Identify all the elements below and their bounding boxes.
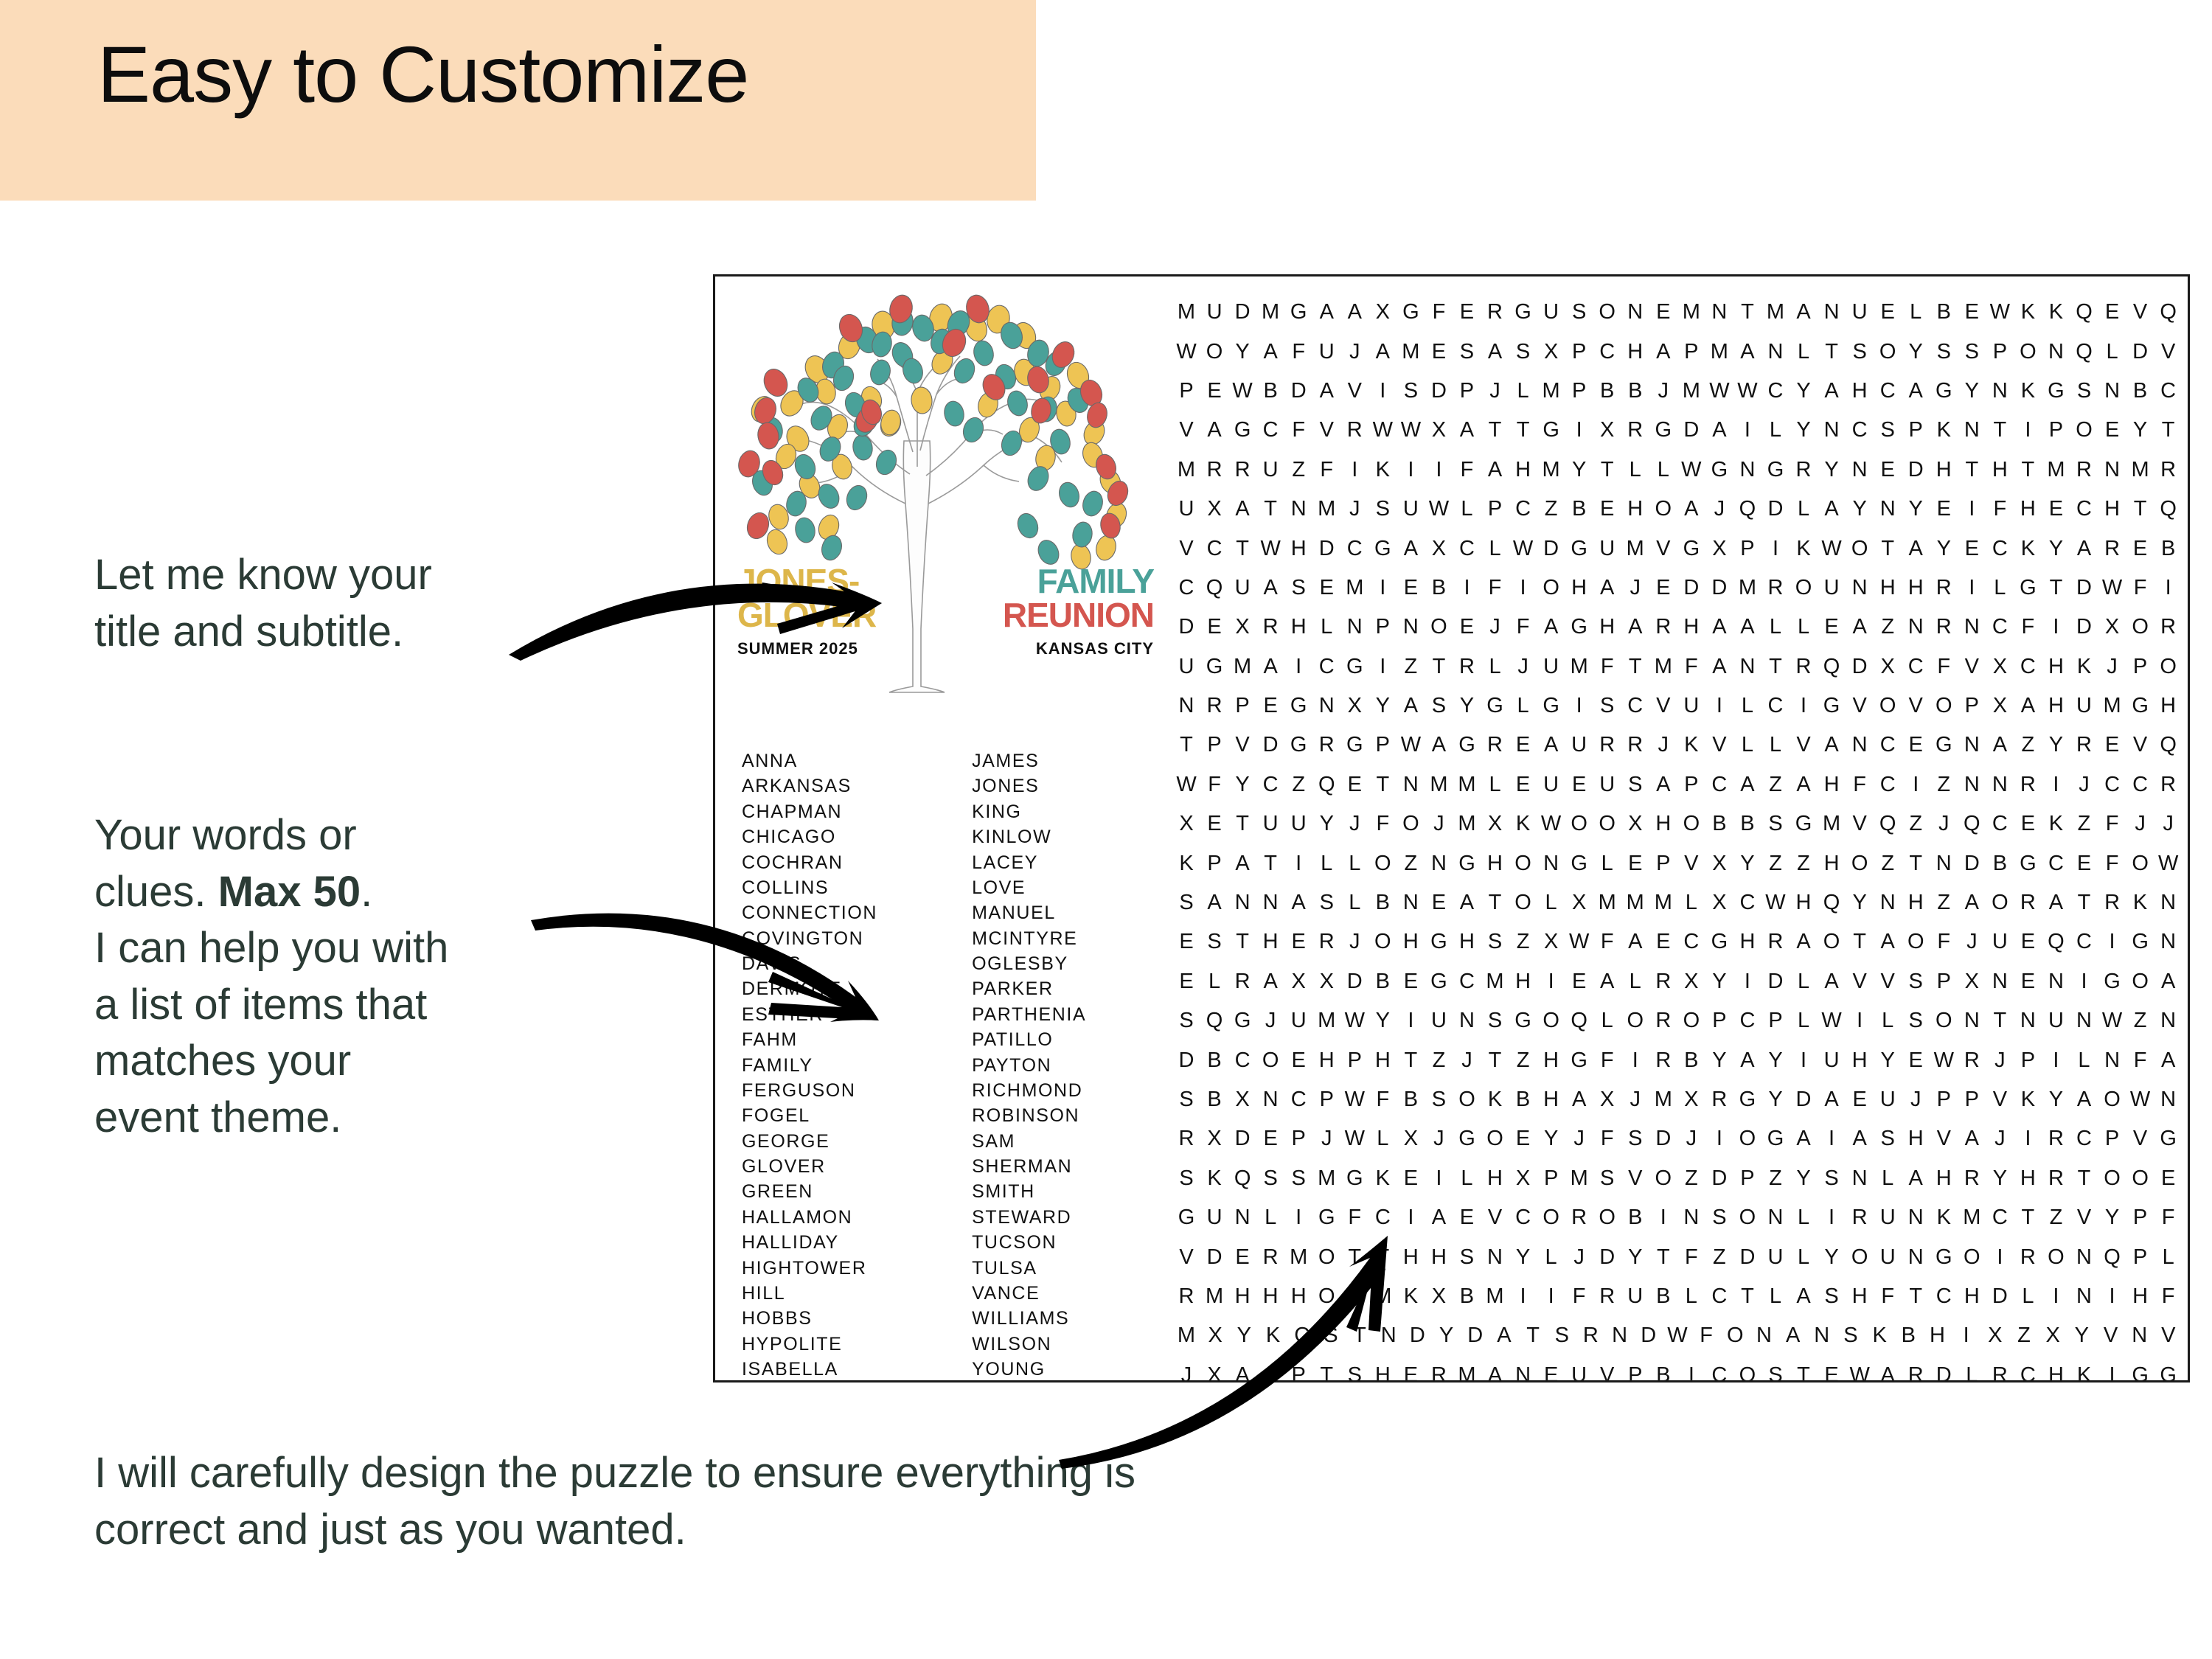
letter-grid-cell: U bbox=[1621, 1284, 1649, 1309]
letter-grid-cell: C bbox=[1593, 340, 1621, 364]
letter-grid-cell: E bbox=[1818, 1363, 1846, 1382]
letter-grid-cell: D bbox=[1284, 379, 1312, 403]
letter-grid-cell: S bbox=[1837, 1324, 1865, 1348]
letter-grid-cell: V bbox=[1593, 1363, 1621, 1382]
letter-grid-cell: T bbox=[1425, 655, 1453, 679]
letter-grid-cell: T bbox=[1346, 1324, 1374, 1348]
letter-grid-cell: K bbox=[1865, 1324, 1893, 1348]
letter-grid-cell: L bbox=[2070, 1048, 2098, 1073]
letter-grid-cell: C bbox=[1509, 1206, 1537, 1230]
letter-grid-cell: G bbox=[2042, 379, 2070, 403]
puzzle-title-right-line1: FAMILY bbox=[977, 564, 1154, 598]
letter-grid-cell: C bbox=[1312, 655, 1340, 679]
letter-grid-cell: A bbox=[1284, 891, 1312, 915]
letter-grid-cell: H bbox=[1593, 615, 1621, 639]
letter-grid-cell: Y bbox=[1902, 497, 1930, 521]
letter-grid-cell: B bbox=[1621, 379, 1649, 403]
letter-grid-cell: I bbox=[1952, 1324, 1980, 1348]
letter-grid-cell: O bbox=[2014, 340, 2042, 364]
letter-grid-cell: N bbox=[2154, 891, 2183, 915]
letter-grid-cell: T bbox=[2126, 497, 2154, 521]
letter-grid-cell: A bbox=[1677, 497, 1705, 521]
letter-grid-cell: N bbox=[1958, 733, 1986, 757]
letter-grid-cell: T bbox=[1519, 1324, 1547, 1348]
letter-grid-cell: V bbox=[1930, 1127, 1958, 1151]
letter-grid-cell: F bbox=[1565, 1284, 1593, 1309]
letter-grid-cell: B bbox=[1368, 891, 1397, 915]
letter-grid-cell: H bbox=[1874, 576, 1902, 600]
letter-grid-cell: K bbox=[1397, 1284, 1425, 1309]
letter-grid-cell: L bbox=[1790, 497, 1818, 521]
letter-grid-cell: A bbox=[1256, 655, 1284, 679]
letter-grid-cell: H bbox=[1397, 1245, 1425, 1270]
letter-grid-cell: T bbox=[1340, 1245, 1368, 1270]
letter-grid-cell: H bbox=[1958, 1284, 1986, 1309]
word-list-item: HIGHTOWER bbox=[742, 1256, 877, 1281]
word-list-item: ESTHER bbox=[742, 1002, 877, 1027]
letter-grid-cell: W bbox=[2098, 1009, 2126, 1033]
letter-grid-cell: Z bbox=[1705, 1245, 1733, 1270]
letter-grid-cell: I bbox=[2042, 773, 2070, 797]
letter-grid-cell: V bbox=[1790, 733, 1818, 757]
letter-grid-cell: B bbox=[1621, 1206, 1649, 1230]
letter-grid-cell: C bbox=[1846, 418, 1874, 442]
letter-grid-cell: R bbox=[1790, 458, 1818, 482]
letter-grid-cell: A bbox=[1593, 970, 1621, 994]
letter-grid-cell: B bbox=[1649, 1363, 1677, 1382]
letter-grid-cell: T bbox=[2042, 576, 2070, 600]
letter-grid-cell: C bbox=[1986, 812, 2014, 836]
letter-grid-cell: E bbox=[1649, 300, 1677, 324]
letter-grid-cell: U bbox=[2042, 1009, 2070, 1033]
letter-grid-cell: T bbox=[1228, 812, 1256, 836]
letter-grid-cell: W bbox=[1172, 340, 1200, 364]
letter-grid-cell: E bbox=[1284, 1048, 1312, 1073]
letter-grid-cell: R bbox=[2098, 537, 2126, 561]
letter-grid-cell: P bbox=[1565, 340, 1593, 364]
letter-grid-cell: N bbox=[2126, 1324, 2154, 1348]
letter-grid-cell: W bbox=[1705, 379, 1733, 403]
letter-grid-cell: N bbox=[2154, 1088, 2183, 1112]
letter-grid-cell: F bbox=[1593, 930, 1621, 954]
word-list-item: FOGEL bbox=[742, 1103, 877, 1128]
letter-grid-cell: A bbox=[1228, 1363, 1256, 1382]
letter-grid-cell: X bbox=[1986, 694, 2014, 718]
letter-grid-cell: X bbox=[1284, 970, 1312, 994]
letter-grid-cell: N bbox=[2098, 1048, 2126, 1073]
letter-grid-cell: Z bbox=[1930, 891, 1958, 915]
letter-grid-cell: M bbox=[1621, 891, 1649, 915]
letter-grid-cell: F bbox=[1340, 1206, 1368, 1230]
letter-grid-cell: S bbox=[1846, 340, 1874, 364]
letter-grid-cell: R bbox=[1565, 1206, 1593, 1230]
letter-grid-cell: X bbox=[1593, 1088, 1621, 1112]
letter-grid-cell: I bbox=[1368, 655, 1397, 679]
letter-grid-cell: R bbox=[1593, 733, 1621, 757]
letter-grid-cell: V bbox=[1677, 852, 1705, 876]
letter-grid-cell: A bbox=[1846, 615, 1874, 639]
letter-grid-cell: U bbox=[1200, 300, 1228, 324]
letter-grid-cell: E bbox=[1453, 1206, 1481, 1230]
letter-grid-cell: S bbox=[1368, 497, 1397, 521]
letter-grid-cell: T bbox=[1874, 537, 1902, 561]
letter-grid-cell: Z bbox=[2070, 812, 2098, 836]
letter-grid-cell: R bbox=[1200, 694, 1228, 718]
letter-grid-cell: S bbox=[1200, 930, 1228, 954]
letter-grid-cell: W bbox=[1340, 1088, 1368, 1112]
letter-grid-cell: C bbox=[1453, 970, 1481, 994]
letter-grid-cell: U bbox=[1284, 1009, 1312, 1033]
letter-grid-cell: Y bbox=[2042, 733, 2070, 757]
letter-grid-cell: V bbox=[1172, 418, 1200, 442]
letter-grid-cell: P bbox=[1986, 340, 2014, 364]
letter-grid-cell: R bbox=[1172, 1127, 1200, 1151]
letter-grid-cell: X bbox=[1200, 1127, 1228, 1151]
letter-grid-cell: J bbox=[1958, 930, 1986, 954]
letter-grid-cell: Y bbox=[1705, 970, 1733, 994]
letter-grid-cell: P bbox=[1902, 418, 1930, 442]
letter-grid-cell: S bbox=[1172, 1009, 1200, 1033]
letter-grid-cell: G bbox=[1565, 1048, 1593, 1073]
letter-grid-row: NRPEGNXYASYGLGISCVUILCIGVOVOPXAHUMGH bbox=[1172, 686, 2183, 726]
letter-grid-cell: J bbox=[1481, 615, 1509, 639]
letter-grid-cell: A bbox=[1256, 576, 1284, 600]
letter-grid-cell: Y bbox=[2042, 1088, 2070, 1112]
letter-grid-cell: N bbox=[2014, 1009, 2042, 1033]
letter-grid-cell: E bbox=[2070, 852, 2098, 876]
letter-grid-cell: Q bbox=[2070, 340, 2098, 364]
letter-grid-cell: L bbox=[1340, 891, 1368, 915]
letter-grid-cell: Q bbox=[1818, 891, 1846, 915]
letter-grid-cell: E bbox=[1284, 930, 1312, 954]
letter-grid-cell: Y bbox=[2126, 418, 2154, 442]
letter-grid-cell: A bbox=[1200, 891, 1228, 915]
letter-grid-cell: E bbox=[1930, 497, 1958, 521]
letter-grid-cell: I bbox=[1509, 1284, 1537, 1309]
letter-grid-cell: V bbox=[1481, 1206, 1509, 1230]
letter-grid-cell: V bbox=[2097, 1324, 2125, 1348]
letter-grid-cell: L bbox=[1481, 537, 1509, 561]
letter-grid-cell: M bbox=[1284, 1245, 1312, 1270]
letter-grid-cell: T bbox=[1902, 1284, 1930, 1309]
letter-grid-cell: T bbox=[1733, 300, 1761, 324]
word-list-item: SHERMAN bbox=[972, 1154, 1086, 1179]
letter-grid-cell: Z bbox=[1761, 852, 1790, 876]
letter-grid-cell: T bbox=[1593, 458, 1621, 482]
word-list-item: RICHMOND bbox=[972, 1078, 1086, 1103]
letter-grid-cell: P bbox=[1284, 1363, 1312, 1382]
letter-grid-cell: T bbox=[2070, 1166, 2098, 1191]
letter-grid-cell: D bbox=[1733, 1245, 1761, 1270]
letter-grid-cell: A bbox=[1779, 1324, 1807, 1348]
letter-grid-cell: L bbox=[1874, 1009, 1902, 1033]
letter-grid-cell: G bbox=[1705, 458, 1733, 482]
letter-grid-cell: M bbox=[1425, 773, 1453, 797]
letter-grid-cell: Q bbox=[1958, 812, 1986, 836]
letter-grid-cell: G bbox=[1565, 615, 1593, 639]
letter-grid-cell: A bbox=[1368, 340, 1397, 364]
letter-grid-cell: P bbox=[1565, 379, 1593, 403]
word-list-item: LACEY bbox=[972, 850, 1086, 875]
letter-grid-cell: K bbox=[2014, 1088, 2042, 1112]
letter-grid-cell: M bbox=[1705, 340, 1733, 364]
letter-grid-cell: P bbox=[1368, 615, 1397, 639]
letter-grid-cell: U bbox=[1284, 812, 1312, 836]
letter-grid-cell: N bbox=[1846, 733, 1874, 757]
letter-grid-cell: R bbox=[2098, 891, 2126, 915]
letter-grid-cell: G bbox=[1284, 300, 1312, 324]
copy-line: a list of items that bbox=[94, 977, 684, 1034]
letter-grid-cell: H bbox=[1256, 1284, 1284, 1309]
letter-grid-cell: J bbox=[1340, 812, 1368, 836]
letter-grid-cell: U bbox=[1986, 930, 2014, 954]
letter-grid-cell: N bbox=[2154, 930, 2183, 954]
word-list-item: HYPOLITE bbox=[742, 1332, 877, 1357]
letter-grid-cell: H bbox=[1481, 1166, 1509, 1191]
word-list-item: YOUNG bbox=[972, 1357, 1086, 1382]
letter-grid-cell: S bbox=[1818, 1166, 1846, 1191]
letter-grid-cell: J bbox=[2098, 655, 2126, 679]
letter-grid-cell: O bbox=[1874, 694, 1902, 718]
letter-grid-row: MXYKCSTNDYDATSRNDWFONANSKBHIXZXYVNV bbox=[1172, 1316, 2183, 1355]
letter-grid-cell: O bbox=[1818, 930, 1846, 954]
letter-grid-cell: J bbox=[1649, 379, 1677, 403]
letter-grid-cell: A bbox=[1228, 852, 1256, 876]
letter-grid-cell: L bbox=[1340, 852, 1368, 876]
letter-grid-cell: Z bbox=[1930, 773, 1958, 797]
letter-grid-cell: T bbox=[1172, 733, 1200, 757]
letter-grid-cell: O bbox=[1593, 300, 1621, 324]
letter-grid-cell: B bbox=[1368, 970, 1397, 994]
letter-grid-cell: R bbox=[1481, 300, 1509, 324]
letter-grid-cell: B bbox=[1200, 1088, 1228, 1112]
letter-grid-cell: D bbox=[1256, 733, 1284, 757]
letter-grid-cell: C bbox=[1368, 1206, 1397, 1230]
letter-grid-cell: R bbox=[1256, 615, 1284, 639]
letter-grid-cell: X bbox=[1200, 1363, 1228, 1382]
word-list-item: STEWARD bbox=[972, 1205, 1086, 1230]
letter-grid-cell: D bbox=[1228, 1127, 1256, 1151]
letter-grid-cell: B bbox=[1733, 812, 1761, 836]
letter-grid-cell: C bbox=[2014, 1363, 2042, 1382]
letter-grid-cell: D bbox=[1425, 379, 1453, 403]
letter-grid-row: DBCOEHPHTZJTZHGFIRBYAYIUHYEWRJPILNFA bbox=[1172, 1040, 2183, 1079]
letter-grid-cell: R bbox=[1256, 1245, 1284, 1270]
letter-grid-cell: H bbox=[1621, 497, 1649, 521]
letter-grid-cell: C bbox=[1874, 773, 1902, 797]
letter-grid-cell: M bbox=[1256, 300, 1284, 324]
letter-grid-cell: H bbox=[1649, 812, 1677, 836]
letter-grid-cell: U bbox=[1256, 812, 1284, 836]
letter-grid-cell: X bbox=[1565, 891, 1593, 915]
letter-grid-cell: N bbox=[1761, 1206, 1790, 1230]
header-banner: Easy to Customize bbox=[0, 0, 1036, 201]
letter-grid-cell: M bbox=[1172, 300, 1200, 324]
letter-grid-cell: I bbox=[2042, 1284, 2070, 1309]
letter-grid-cell: N bbox=[1677, 1206, 1705, 1230]
copy-line: title and subtitle. bbox=[94, 604, 669, 661]
letter-grid-cell: J bbox=[1677, 1127, 1705, 1151]
letter-grid-cell: O bbox=[1509, 891, 1537, 915]
letter-grid-cell: H bbox=[1284, 615, 1312, 639]
letter-grid-cell: L bbox=[1593, 1009, 1621, 1033]
letter-grid-cell: L bbox=[1874, 1166, 1902, 1191]
instruction-text-words-clues: Your words or clues. Max 50. I can help … bbox=[94, 807, 684, 1146]
letter-grid-cell: Y bbox=[1537, 1127, 1565, 1151]
letter-grid-cell: I bbox=[1509, 576, 1537, 600]
letter-grid-cell: V bbox=[1902, 694, 1930, 718]
letter-grid-cell: K bbox=[2042, 300, 2070, 324]
letter-grid-cell: L bbox=[1761, 1284, 1790, 1309]
word-list-item: COCHRAN bbox=[742, 850, 877, 875]
letter-grid-cell: L bbox=[1790, 1245, 1818, 1270]
letter-grid-cell: V bbox=[1228, 733, 1256, 757]
letter-grid-cell: B bbox=[1509, 1088, 1537, 1112]
letter-grid-cell: A bbox=[1490, 1324, 1518, 1348]
letter-grid-cell: D bbox=[1635, 1324, 1663, 1348]
letter-grid-cell: J bbox=[1986, 1127, 2014, 1151]
letter-grid-cell: G bbox=[1368, 537, 1397, 561]
letter-grid-cell: J bbox=[1565, 1127, 1593, 1151]
letter-grid-cell: M bbox=[1565, 1166, 1593, 1191]
letter-grid-cell: I bbox=[1453, 576, 1481, 600]
letter-grid-cell: N bbox=[1228, 891, 1256, 915]
letter-grid-cell: P bbox=[1481, 497, 1509, 521]
letter-grid-cell: Q bbox=[1565, 1009, 1593, 1033]
letter-grid-cell: C bbox=[1509, 497, 1537, 521]
letter-grid-cell: Q bbox=[1228, 1166, 1256, 1191]
letter-grid-cell: G bbox=[1649, 418, 1677, 442]
letter-grid-cell: K bbox=[1368, 458, 1397, 482]
letter-grid-cell: X bbox=[1677, 1088, 1705, 1112]
letter-grid-cell: A bbox=[1846, 1127, 1874, 1151]
letter-grid-cell: T bbox=[1818, 340, 1846, 364]
letter-grid-cell: B bbox=[1705, 812, 1733, 836]
letter-grid-cell: M bbox=[1172, 1324, 1200, 1348]
letter-grid-cell: E bbox=[1818, 615, 1846, 639]
word-list-item: VANCE bbox=[972, 1281, 1086, 1306]
letter-grid-cell: K bbox=[1677, 733, 1705, 757]
letter-grid-cell: G bbox=[1537, 418, 1565, 442]
letter-grid-cell: C bbox=[1874, 733, 1902, 757]
letter-grid-cell: Z bbox=[2010, 1324, 2038, 1348]
letter-grid-cell: N bbox=[1397, 615, 1425, 639]
letter-grid-cell: S bbox=[1761, 1363, 1790, 1382]
letter-grid-cell: C bbox=[1172, 576, 1200, 600]
letter-grid-cell: H bbox=[1846, 379, 1874, 403]
copy-line: correct and just as you wanted. bbox=[94, 1502, 1864, 1559]
letter-grid-cell: L bbox=[1733, 733, 1761, 757]
letter-grid-cell: F bbox=[1986, 497, 2014, 521]
letter-grid-cell: M bbox=[1761, 300, 1790, 324]
letter-grid-cell: E bbox=[1846, 1088, 1874, 1112]
letter-grid-cell: R bbox=[2154, 458, 2183, 482]
letter-grid-cell: L bbox=[1790, 615, 1818, 639]
letter-grid-cell: Z bbox=[1537, 497, 1565, 521]
letter-grid-cell: L bbox=[1200, 970, 1228, 994]
letter-grid-cell: R bbox=[1958, 1166, 1986, 1191]
letter-grid-cell: I bbox=[1368, 576, 1397, 600]
letter-grid-cell: G bbox=[1930, 1245, 1958, 1270]
letter-grid-cell: R bbox=[1761, 576, 1790, 600]
letter-grid-cell: R bbox=[1200, 458, 1228, 482]
letter-grid-cell: R bbox=[1958, 1048, 1986, 1073]
letter-grid-cell: U bbox=[1818, 576, 1846, 600]
letter-grid-cell: E bbox=[1397, 1166, 1425, 1191]
letter-grid-cell: N bbox=[1312, 694, 1340, 718]
letter-grid-cell: E bbox=[1200, 615, 1228, 639]
letter-grid-cell: R bbox=[1481, 733, 1509, 757]
letter-grid-cell: F bbox=[1930, 655, 1958, 679]
letter-grid-cell: D bbox=[1958, 852, 1986, 876]
letter-grid-row: ELRAXXDBEGCMHIEALRXYIDLAVVSPXNENIGOA bbox=[1172, 962, 2183, 1001]
letter-grid-cell: C bbox=[2070, 1127, 2098, 1151]
letter-grid-cell: P bbox=[1705, 1009, 1733, 1033]
letter-grid-cell: P bbox=[1733, 537, 1761, 561]
letter-grid-cell: H bbox=[1509, 970, 1537, 994]
letter-grid-cell: S bbox=[1621, 773, 1649, 797]
letter-grid-cell: I bbox=[1284, 852, 1312, 876]
letter-grid-cell: F bbox=[1312, 458, 1340, 482]
letter-grid-cell: H bbox=[2014, 497, 2042, 521]
letter-grid-cell: E bbox=[1902, 1048, 1930, 1073]
letter-grid-cell: E bbox=[2014, 812, 2042, 836]
letter-grid-cell: I bbox=[2014, 1127, 2042, 1151]
letter-grid-cell: M bbox=[1312, 1009, 1340, 1033]
letter-grid-cell: V bbox=[1986, 1088, 2014, 1112]
letter-grid-cell: W bbox=[1761, 891, 1790, 915]
letter-grid-cell: O bbox=[1453, 1088, 1481, 1112]
letter-grid-cell: C bbox=[1228, 1048, 1256, 1073]
letter-grid-cell: H bbox=[1256, 930, 1284, 954]
letter-grid-cell: A bbox=[2070, 537, 2098, 561]
letter-grid-cell: H bbox=[1930, 458, 1958, 482]
letter-grid-cell: E bbox=[1172, 970, 1200, 994]
letter-grid-row: ESTHERJOHGHSZXWFAECGHRAOTAOFJUEQCIGN bbox=[1172, 922, 2183, 961]
letter-grid-cell: R bbox=[1705, 1088, 1733, 1112]
letter-grid-cell: T bbox=[2154, 418, 2183, 442]
letter-grid-cell: T bbox=[1649, 1245, 1677, 1270]
letter-grid-cell: P bbox=[1761, 1009, 1790, 1033]
letter-grid-cell: P bbox=[1172, 379, 1200, 403]
letter-grid-cell: A bbox=[1537, 733, 1565, 757]
letter-grid-cell: M bbox=[1537, 458, 1565, 482]
letter-grid-cell: G bbox=[1340, 733, 1368, 757]
letter-grid-cell: X bbox=[1621, 812, 1649, 836]
letter-grid-cell: M bbox=[1593, 891, 1621, 915]
letter-grid-cell: V bbox=[1846, 970, 1874, 994]
letter-grid-cell: C bbox=[1705, 773, 1733, 797]
letter-grid-cell: I bbox=[1397, 1206, 1425, 1230]
letter-grid-cell: N bbox=[1761, 340, 1790, 364]
letter-grid-cell: N bbox=[1958, 418, 1986, 442]
letter-grid-cell: O bbox=[1958, 1245, 1986, 1270]
letter-grid-cell: A bbox=[1705, 615, 1733, 639]
letter-grid-cell: A bbox=[1705, 655, 1733, 679]
letter-grid-cell: S bbox=[1930, 340, 1958, 364]
letter-grid-cell: P bbox=[1200, 852, 1228, 876]
letter-grid-cell: I bbox=[1565, 418, 1593, 442]
letter-grid-cell: D bbox=[2126, 340, 2154, 364]
letter-grid-row: MRRUZFIKIIFAHMYTLLWGNGRYNEDHTHTMRNMR bbox=[1172, 451, 2183, 490]
letter-grid-cell: F bbox=[2154, 1284, 2183, 1309]
letter-grid-cell: V bbox=[2070, 1206, 2098, 1230]
letter-grid-cell: R bbox=[1986, 1363, 2014, 1382]
letter-grid-cell: C bbox=[1256, 773, 1284, 797]
letter-grid-cell: M bbox=[1481, 1284, 1509, 1309]
letter-grid-cell: A bbox=[1228, 497, 1256, 521]
letter-grid-cell: S bbox=[1509, 340, 1537, 364]
